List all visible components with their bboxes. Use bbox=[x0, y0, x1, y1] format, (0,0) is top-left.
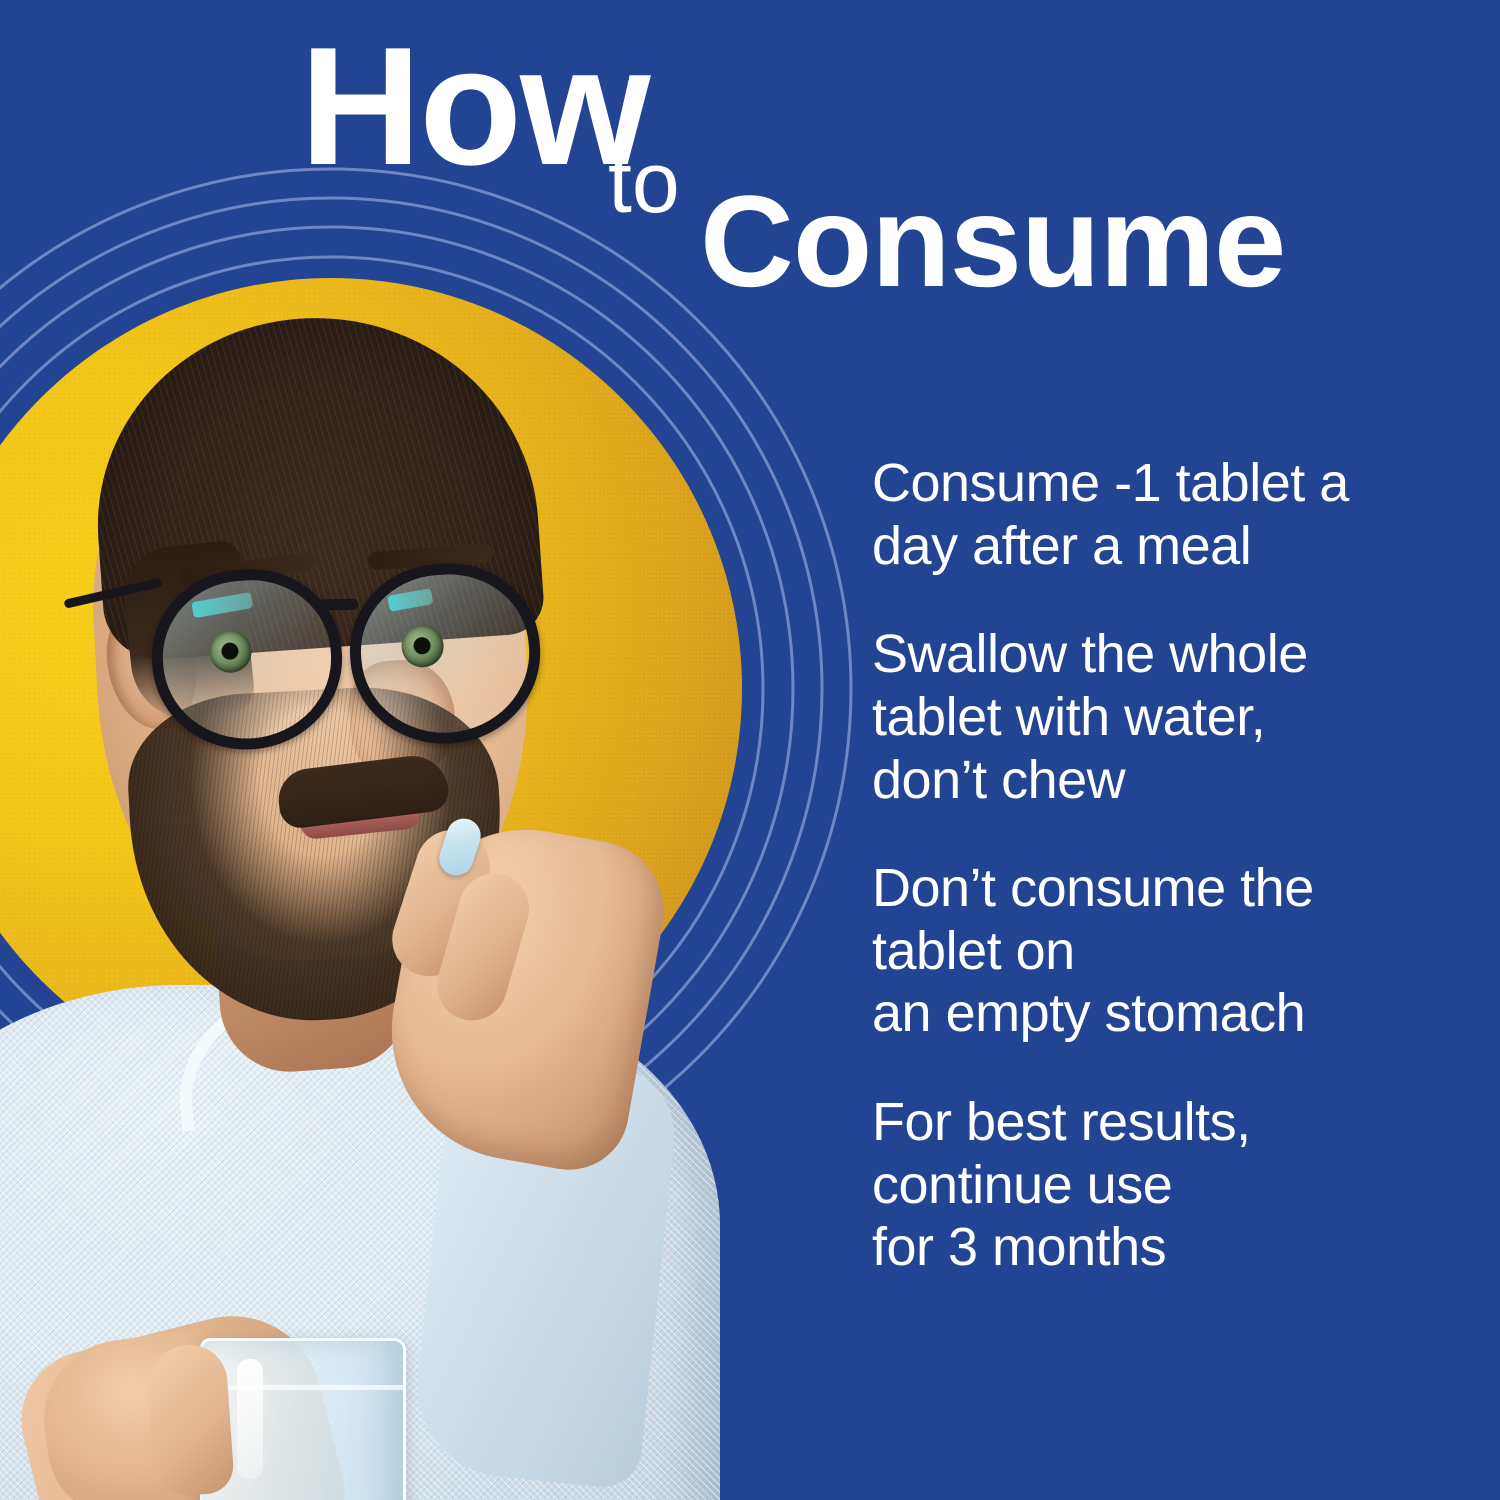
how-to-consume-infographic: How to Consume Consume -1 tablet a day a… bbox=[0, 0, 1500, 1500]
instruction-item-duration: For best results, continue use for 3 mon… bbox=[872, 1091, 1472, 1279]
instruction-item-dosage: Consume -1 tablet a day after a meal bbox=[872, 452, 1472, 577]
instruction-item-swallow: Swallow the whole tablet with water, don… bbox=[872, 623, 1472, 811]
headline-line-1: How bbox=[300, 22, 649, 190]
thumb bbox=[145, 1342, 235, 1497]
instruction-list: Consume -1 tablet a day after a meal Swa… bbox=[872, 452, 1472, 1279]
headline-line-2: Consume bbox=[700, 176, 1285, 306]
headline-connector: to bbox=[608, 140, 680, 226]
eyeglass-bridge bbox=[312, 599, 358, 611]
instruction-item-no-empty-stomach: Don’t consume the tablet on an empty sto… bbox=[872, 857, 1472, 1045]
eyeglass-lens-right bbox=[344, 557, 546, 750]
eyeglasses-icon bbox=[124, 541, 557, 770]
